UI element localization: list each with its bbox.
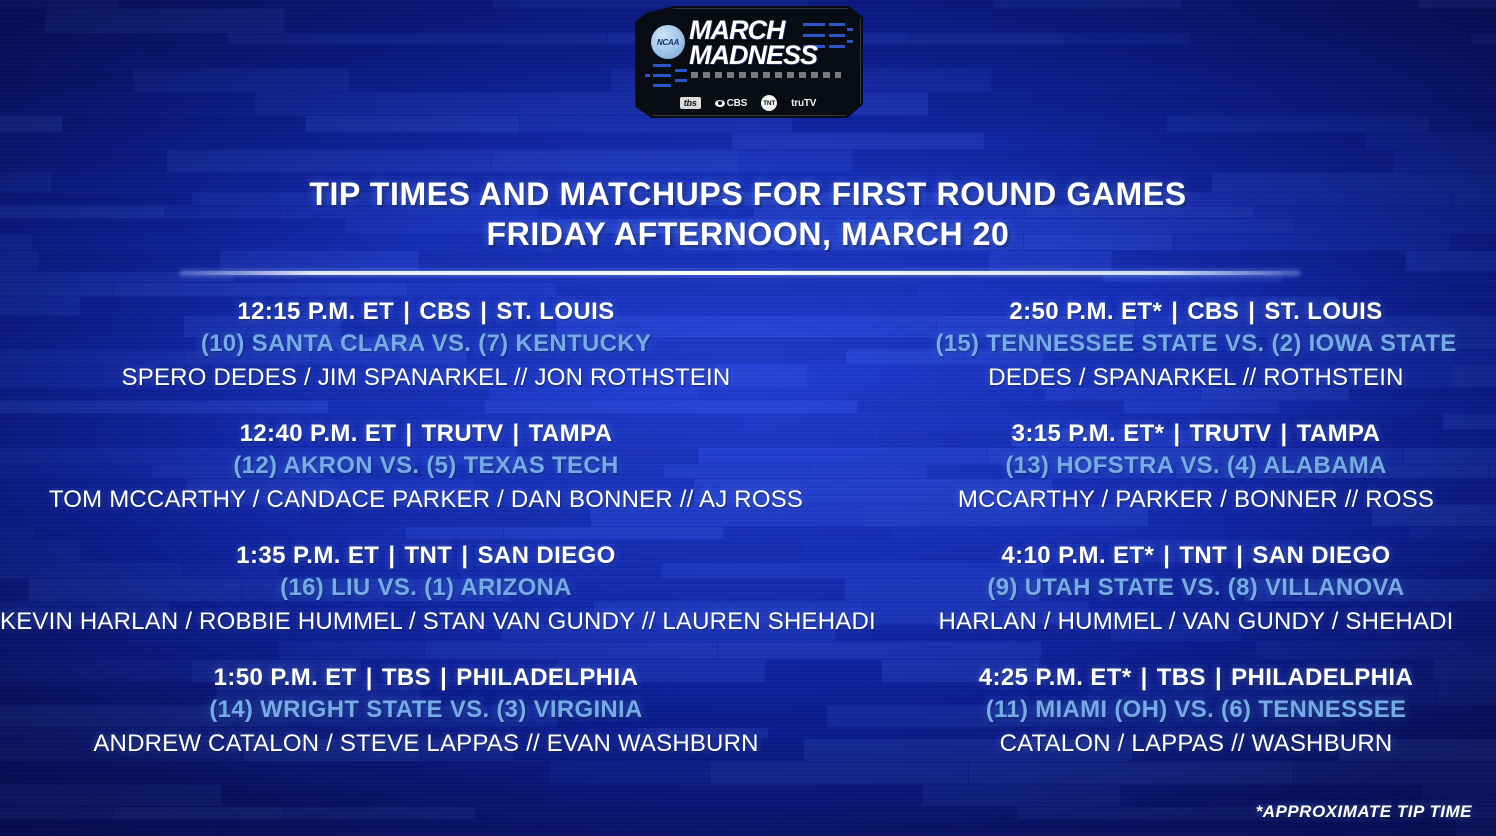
ncaa-logo-icon: NCAA <box>651 25 685 59</box>
game-matchup: (16) LIU VS. (1) ARIZONA <box>0 574 852 602</box>
game-network: TBS <box>382 664 431 691</box>
field-separator: | <box>1272 420 1297 448</box>
game-matchup: (15) TENNESSEE STATE VS. (2) IOWA STATE <box>900 330 1492 358</box>
field-separator: | <box>379 542 404 570</box>
game-matchup: (9) UTAH STATE VS. (8) VILLANOVA <box>900 574 1492 602</box>
game-tip-time: 4:10 P.M. ET* <box>1001 542 1154 569</box>
field-separator: | <box>1206 664 1231 692</box>
game-time-network-city: 4:10 P.M. ET*|TNT|SAN DIEGO <box>900 542 1492 570</box>
field-separator: | <box>1132 664 1157 692</box>
game-broadcast-crew: TOM MCCARTHY / CANDACE PARKER / DAN BONN… <box>0 486 852 514</box>
tnt-logo-icon: TNT <box>761 95 777 111</box>
game-time-network-city: 1:50 P.M. ET|TBS|PHILADELPHIA <box>0 664 852 692</box>
game-tip-time: 12:15 P.M. ET <box>237 298 394 325</box>
game-block: 1:50 P.M. ET|TBS|PHILADELPHIA(14) WRIGHT… <box>0 664 852 758</box>
cbs-eye-icon <box>715 100 725 107</box>
game-city: TAMPA <box>529 420 613 447</box>
field-separator: | <box>431 664 456 692</box>
game-block: 1:35 P.M. ET|TNT|SAN DIEGO(16) LIU VS. (… <box>0 542 852 636</box>
field-separator: | <box>394 298 419 326</box>
approximate-tip-time-footnote: *APPROXIMATE TIP TIME <box>1256 802 1472 822</box>
game-time-network-city: 12:15 P.M. ET|CBS|ST. LOUIS <box>0 298 852 326</box>
game-network: TBS <box>1157 664 1206 691</box>
game-city: PHILADELPHIA <box>456 664 638 691</box>
game-city: SAN DIEGO <box>1252 542 1390 569</box>
game-city: PHILADELPHIA <box>1231 664 1413 691</box>
game-matchup: (14) WRIGHT STATE VS. (3) VIRGINIA <box>0 696 852 724</box>
field-separator: | <box>1239 298 1264 326</box>
title-divider <box>180 271 1300 275</box>
game-tip-time: 3:15 P.M. ET* <box>1012 420 1165 447</box>
game-broadcast-crew: MCCARTHY / PARKER / BONNER // ROSS <box>900 486 1492 514</box>
game-time-network-city: 2:50 P.M. ET*|CBS|ST. LOUIS <box>900 298 1492 326</box>
game-broadcast-crew: KEVIN HARLAN / ROBBIE HUMMEL / STAN VAN … <box>0 608 852 636</box>
tbs-logo-icon: tbs <box>680 97 701 109</box>
cbs-logo-icon: CBS <box>715 98 748 109</box>
game-broadcast-crew: CATALON / LAPPAS // WASHBURN <box>900 730 1492 758</box>
game-matchup: (12) AKRON VS. (5) TEXAS TECH <box>0 452 852 480</box>
game-block: 12:40 P.M. ET|TRUTV|TAMPA(12) AKRON VS. … <box>0 420 852 514</box>
game-block: 3:15 P.M. ET*|TRUTV|TAMPA(13) HOFSTRA VS… <box>900 420 1492 514</box>
page-title: TIP TIMES AND MATCHUPS FOR FIRST ROUND G… <box>0 174 1496 255</box>
game-network: CBS <box>419 298 471 325</box>
field-separator: | <box>471 298 496 326</box>
game-broadcast-crew: ANDREW CATALON / STEVE LAPPAS // EVAN WA… <box>0 730 852 758</box>
game-block: 12:15 P.M. ET|CBS|ST. LOUIS(10) SANTA CL… <box>0 298 852 392</box>
game-block: 2:50 P.M. ET*|CBS|ST. LOUIS(15) TENNESSE… <box>900 298 1492 392</box>
games-grid: 12:15 P.M. ET|CBS|ST. LOUIS(10) SANTA CL… <box>0 298 1496 758</box>
game-tip-time: 4:25 P.M. ET* <box>979 664 1132 691</box>
game-matchup: (11) MIAMI (OH) VS. (6) TENNESSEE <box>900 696 1492 724</box>
game-network: TRUTV <box>1190 420 1272 447</box>
game-city: SAN DIEGO <box>477 542 615 569</box>
game-city: ST. LOUIS <box>1264 298 1382 325</box>
field-separator: | <box>357 664 382 692</box>
game-city: ST. LOUIS <box>496 298 614 325</box>
game-network: CBS <box>1187 298 1239 325</box>
game-broadcast-crew: HARLAN / HUMMEL / VAN GUNDY / SHEHADI <box>900 608 1492 636</box>
field-separator: | <box>504 420 529 448</box>
field-separator: | <box>396 420 421 448</box>
right-column: 2:50 P.M. ET*|CBS|ST. LOUIS(15) TENNESSE… <box>900 298 1496 758</box>
network-logos-row: tbs CBS TNT truTV <box>633 93 863 113</box>
game-matchup: (13) HOFSTRA VS. (4) ALABAMA <box>900 452 1492 480</box>
game-matchup: (10) SANTA CLARA VS. (7) KENTUCKY <box>0 330 852 358</box>
game-time-network-city: 1:35 P.M. ET|TNT|SAN DIEGO <box>0 542 852 570</box>
game-tip-time: 1:35 P.M. ET <box>236 542 379 569</box>
game-block: 4:10 P.M. ET*|TNT|SAN DIEGO(9) UTAH STAT… <box>900 542 1492 636</box>
game-broadcast-crew: SPERO DEDES / JIM SPANARKEL // JON ROTHS… <box>0 364 852 392</box>
trutv-logo-icon: truTV <box>791 98 816 109</box>
march-madness-logo: NCAA MARCH MADNESS tbs CBS TNT truTV <box>633 6 863 118</box>
game-network: TRUTV <box>422 420 504 447</box>
title-line-1: TIP TIMES AND MATCHUPS FOR FIRST ROUND G… <box>309 176 1186 212</box>
game-network: TNT <box>1179 542 1227 569</box>
title-line-2: FRIDAY AFTERNOON, MARCH 20 <box>0 214 1496 254</box>
logo-dash-accent <box>691 72 841 78</box>
logo-wordmark: MARCH MADNESS <box>689 18 857 68</box>
game-block: 4:25 P.M. ET*|TBS|PHILADELPHIA(11) MIAMI… <box>900 664 1492 758</box>
game-network: TNT <box>404 542 452 569</box>
game-tip-time: 12:40 P.M. ET <box>240 420 397 447</box>
field-separator: | <box>1164 420 1189 448</box>
game-time-network-city: 12:40 P.M. ET|TRUTV|TAMPA <box>0 420 852 448</box>
game-tip-time: 2:50 P.M. ET* <box>1009 298 1162 325</box>
field-separator: | <box>1227 542 1252 570</box>
game-city: TAMPA <box>1297 420 1381 447</box>
field-separator: | <box>1154 542 1179 570</box>
game-time-network-city: 3:15 P.M. ET*|TRUTV|TAMPA <box>900 420 1492 448</box>
game-time-network-city: 4:25 P.M. ET*|TBS|PHILADELPHIA <box>900 664 1492 692</box>
left-column: 12:15 P.M. ET|CBS|ST. LOUIS(10) SANTA CL… <box>0 298 900 758</box>
bracket-left-icon <box>645 62 691 92</box>
game-tip-time: 1:50 P.M. ET <box>214 664 357 691</box>
field-separator: | <box>452 542 477 570</box>
field-separator: | <box>1162 298 1187 326</box>
logo-line-madness: MADNESS <box>689 43 857 68</box>
game-broadcast-crew: DEDES / SPANARKEL // ROTHSTEIN <box>900 364 1492 392</box>
